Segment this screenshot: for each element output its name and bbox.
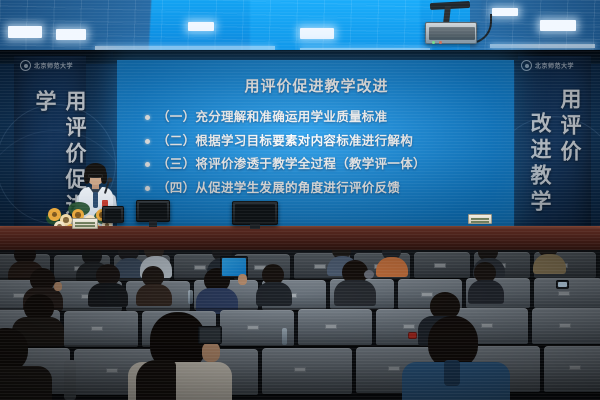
seat: [262, 348, 352, 394]
stage-laptop: [102, 206, 124, 223]
ceiling-lamp: [56, 29, 86, 40]
stage-monitor-stand: [250, 224, 260, 229]
person-shoulders: [334, 280, 376, 306]
person-hand: [238, 274, 247, 285]
stage-monitor-stand: [149, 221, 157, 227]
seat: [298, 309, 372, 345]
seat-armrest: [64, 360, 76, 400]
camera: [198, 326, 222, 344]
stage-monitor: [136, 200, 170, 222]
stage-laptop-screen: [105, 209, 121, 220]
stage-desk: [0, 228, 600, 252]
speaker-glasses: [88, 174, 103, 178]
stage-nameplate: [468, 214, 492, 224]
water-bottle: [282, 328, 287, 345]
seat: [532, 308, 600, 344]
seat-indicator-light: [408, 332, 417, 339]
phone-screen: [558, 282, 567, 287]
shirt-collar: [444, 360, 460, 386]
stage-monitor-screen: [235, 204, 275, 222]
stage-nameplate: [72, 218, 98, 229]
person-hand: [202, 342, 220, 362]
seat: [64, 311, 138, 347]
ceiling-lamp: [492, 8, 518, 16]
stage-monitor-screen: [139, 203, 167, 219]
projector-led: [439, 41, 442, 44]
camera-body: [200, 328, 220, 342]
person-hair-strand: [136, 360, 176, 400]
person-hand: [54, 282, 62, 291]
ceiling-light-strip: [490, 44, 595, 48]
person-shoulders: [256, 282, 292, 306]
hair-tie: [364, 270, 374, 279]
stage-monitor: [232, 201, 278, 225]
smartphone: [556, 280, 569, 289]
ceiling-lamp: [188, 22, 214, 31]
lecture-hall-photo: 北京师范大学 用评价促进教学 北京师范大学 用评价 改进教学 北京师范大学 · …: [0, 0, 600, 400]
projector-front-panel: [429, 27, 475, 40]
seat: [544, 346, 600, 392]
ceiling-lamp: [300, 28, 334, 39]
person-shoulders: [468, 280, 504, 304]
person-shoulders: [533, 254, 566, 274]
person-shoulders: [0, 366, 52, 400]
person-shoulders: [136, 284, 172, 306]
water-bottle: [188, 290, 193, 304]
ceiling-lamp: [540, 20, 576, 31]
ceiling-lamp: [8, 26, 42, 38]
person-shoulders: [88, 283, 128, 307]
audience-seating-area: [0, 250, 600, 400]
seat: [414, 252, 470, 278]
projector-led: [432, 41, 435, 44]
person-shoulders: [376, 257, 408, 277]
projector: [425, 22, 477, 44]
